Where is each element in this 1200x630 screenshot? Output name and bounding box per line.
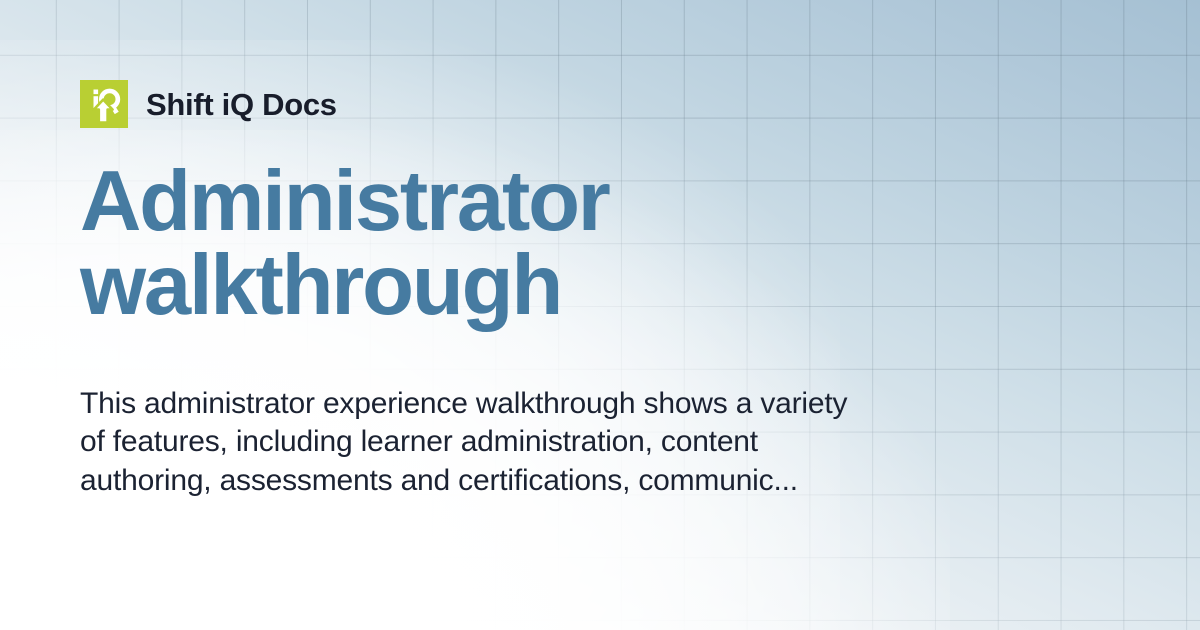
page-description: This administrator experience walkthroug… [80,385,870,500]
content-container: Shift iQ Docs Administrator walkthrough … [80,0,960,630]
iq-arrow-logo-icon [80,80,128,128]
page-title: Administrator walkthrough [80,160,900,328]
brand-lockup[interactable]: Shift iQ Docs [80,80,337,128]
brand-name-label: Shift iQ Docs [146,89,337,120]
og-preview-card: Shift iQ Docs Administrator walkthrough … [0,0,1200,630]
